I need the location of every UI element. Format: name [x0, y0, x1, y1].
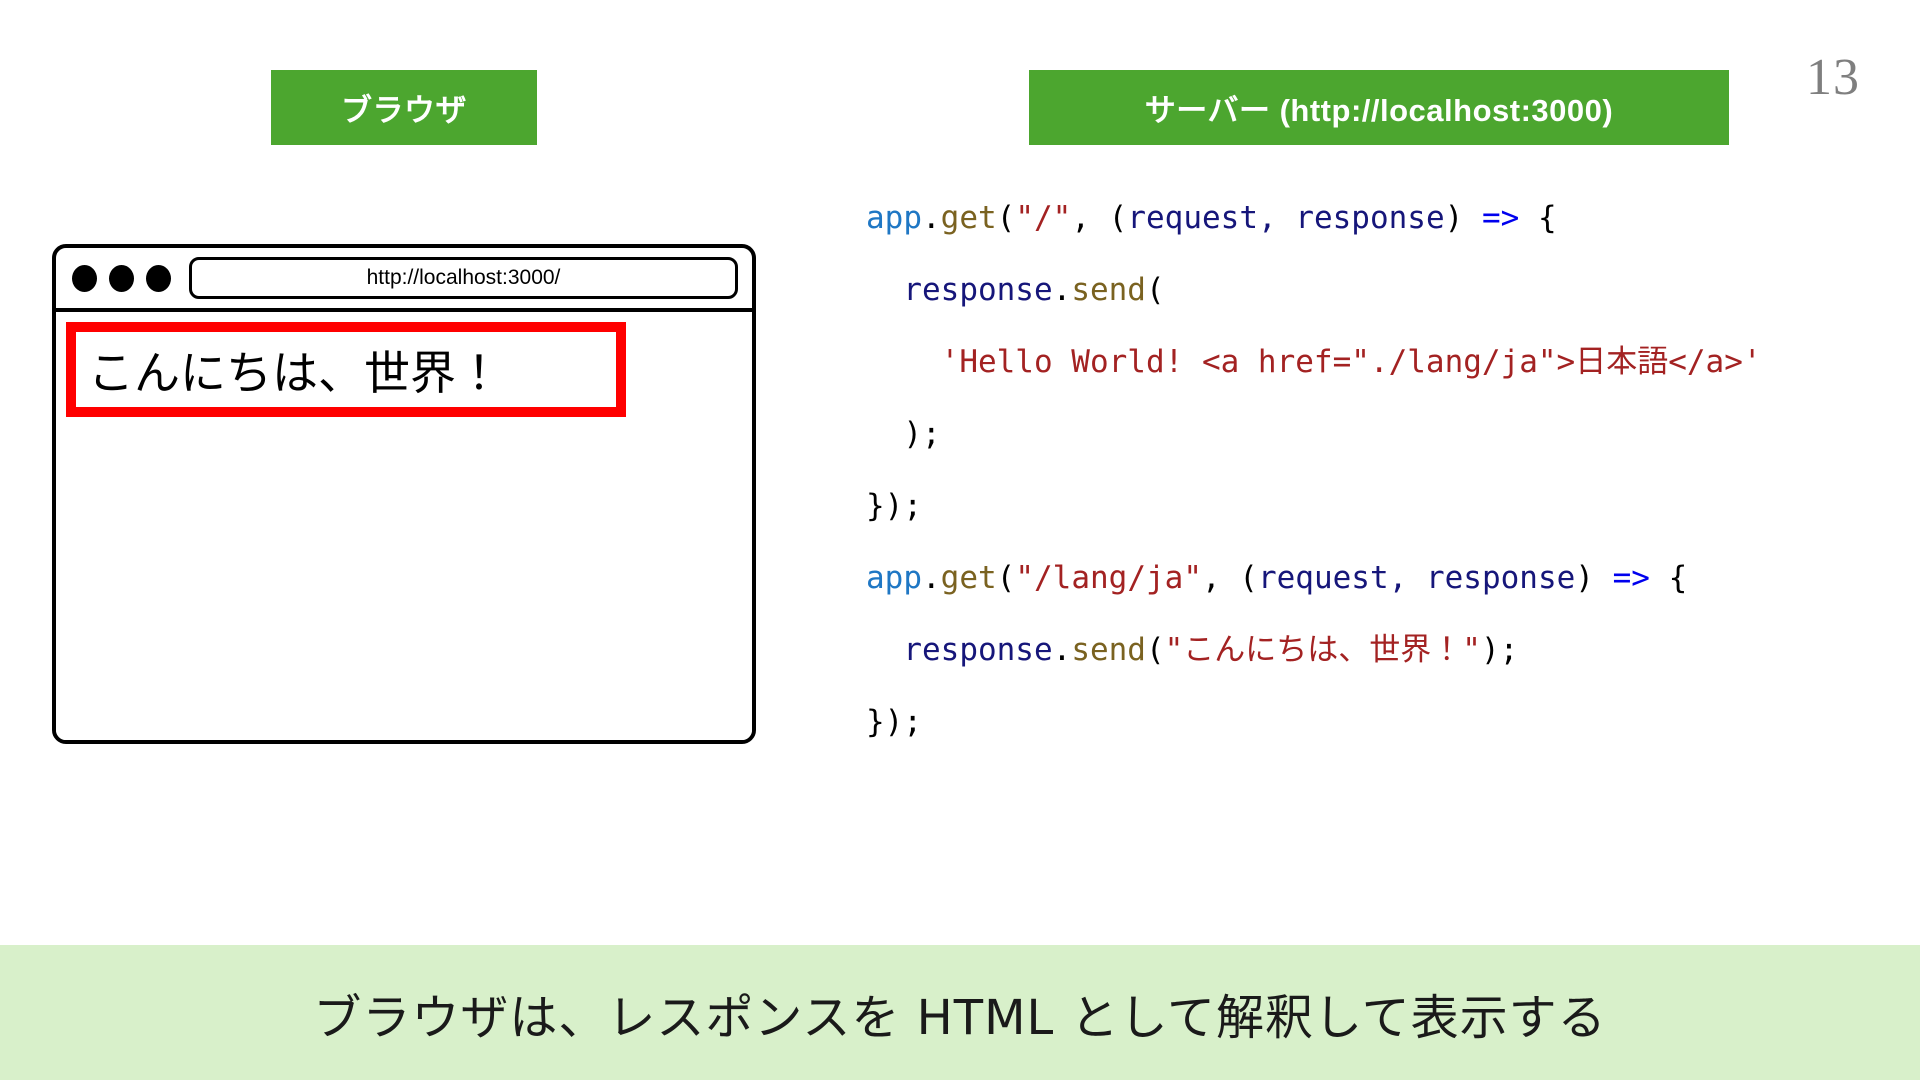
code-token-plain: . — [922, 560, 941, 596]
code-token-plain: ) — [1575, 560, 1612, 596]
code-token-method: get — [941, 560, 997, 596]
window-minimize-dot-icon[interactable] — [109, 265, 134, 292]
code-line: ); — [866, 398, 1876, 470]
code-line: response.send( — [866, 254, 1876, 326]
code-token-plain: ( — [1146, 272, 1165, 308]
code-token-param: response — [903, 272, 1052, 308]
code-token-plain — [866, 344, 941, 380]
code-token-method: get — [941, 200, 997, 236]
code-token-param: request, response — [1258, 560, 1575, 596]
code-line: }); — [866, 686, 1876, 758]
page-number: 13 — [1806, 52, 1860, 104]
code-token-plain: ); — [1481, 632, 1518, 668]
caption-band: ブラウザは、レスポンスを HTML として解釈して表示する — [0, 945, 1920, 1080]
code-token-param: response — [903, 632, 1052, 668]
code-token-plain: , ( — [1071, 200, 1127, 236]
code-token-plain: { — [1650, 560, 1687, 596]
rendered-output-text: こんにちは、世界！ — [76, 337, 502, 403]
code-token-obj: app — [866, 560, 922, 596]
code-line: }); — [866, 470, 1876, 542]
code-token-plain: ( — [997, 200, 1016, 236]
code-token-plain: ) — [1445, 200, 1482, 236]
code-line: app.get("/", (request, response) => { — [866, 182, 1876, 254]
banner-server-label: サーバー (http://localhost:3000) — [1145, 85, 1613, 130]
browser-window-mockup: http://localhost:3000/ こんにちは、世界！ — [52, 244, 756, 744]
code-token-plain: { — [1519, 200, 1556, 236]
code-token-plain: , ( — [1202, 560, 1258, 596]
code-token-string: "/" — [1015, 200, 1071, 236]
code-token-plain: . — [1053, 272, 1072, 308]
code-line: 'Hello World! <a href="./lang/ja">日本語</a… — [866, 326, 1876, 398]
code-token-method: send — [1071, 272, 1146, 308]
banner-server: サーバー (http://localhost:3000) — [1029, 70, 1729, 145]
code-token-plain: ); — [866, 416, 941, 452]
banner-browser-label: ブラウザ — [341, 85, 467, 130]
code-token-plain: }); — [866, 704, 922, 740]
code-token-arrow: => — [1482, 200, 1519, 236]
code-token-method: send — [1071, 632, 1146, 668]
banner-browser: ブラウザ — [271, 70, 537, 145]
code-token-string: 'Hello World! <a href="./lang/ja">日本語</a… — [941, 344, 1762, 380]
code-token-param: request, response — [1127, 200, 1444, 236]
code-token-plain — [866, 632, 903, 668]
code-line: app.get("/lang/ja", (request, response) … — [866, 542, 1876, 614]
code-token-plain — [866, 272, 903, 308]
code-token-plain: }); — [866, 488, 922, 524]
address-bar-url: http://localhost:3000/ — [367, 266, 561, 290]
window-maximize-dot-icon[interactable] — [146, 265, 171, 292]
code-token-plain: . — [1053, 632, 1072, 668]
code-line: response.send("こんにちは、世界！"); — [866, 614, 1876, 686]
server-code-listing: app.get("/", (request, response) => { re… — [866, 182, 1876, 758]
window-close-dot-icon[interactable] — [72, 265, 97, 292]
caption-text: ブラウザは、レスポンスを HTML として解釈して表示する — [313, 978, 1606, 1048]
rendered-output-highlight: こんにちは、世界！ — [66, 322, 626, 417]
code-token-string: "こんにちは、世界！" — [1165, 632, 1481, 668]
code-token-plain: ( — [997, 560, 1016, 596]
code-token-string: "/lang/ja" — [1015, 560, 1202, 596]
window-controls — [72, 265, 171, 292]
browser-viewport: こんにちは、世界！ — [56, 312, 752, 740]
code-token-arrow: => — [1613, 560, 1650, 596]
code-token-obj: app — [866, 200, 922, 236]
browser-titlebar: http://localhost:3000/ — [56, 248, 752, 312]
code-token-plain: ( — [1146, 632, 1165, 668]
address-bar[interactable]: http://localhost:3000/ — [189, 257, 738, 299]
code-token-plain: . — [922, 200, 941, 236]
